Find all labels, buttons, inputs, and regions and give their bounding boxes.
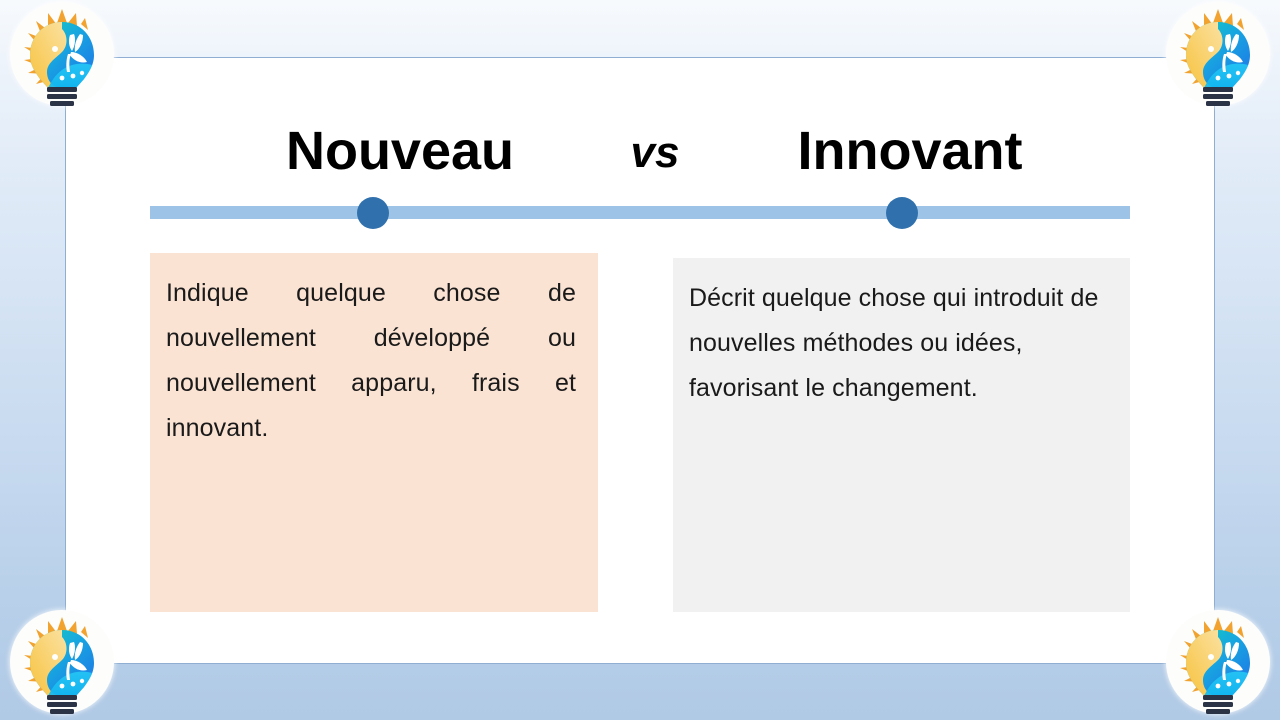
title-term-right: Innovant bbox=[710, 112, 1110, 190]
timeline-bar bbox=[150, 206, 1130, 219]
frame-line-right bbox=[1214, 57, 1215, 664]
frame-line-top bbox=[65, 57, 1215, 58]
timeline-marker-right bbox=[886, 197, 918, 229]
lightbulb-sun-leaf-logo-icon bbox=[1166, 2, 1270, 106]
definition-text-nouveau: Indique quelque chose de nouvellement dé… bbox=[166, 271, 576, 451]
slide-canvas: Nouveau vs Innovant Indique quelque chos… bbox=[0, 0, 1280, 720]
frame-line-left bbox=[65, 57, 66, 664]
title-versus-label: vs bbox=[600, 116, 710, 190]
lightbulb-sun-leaf-logo-icon bbox=[10, 2, 114, 106]
timeline-marker-left bbox=[357, 197, 389, 229]
definition-card-innovant: Décrit quelque chose qui introduit de no… bbox=[673, 258, 1130, 612]
frame-line-bottom bbox=[65, 663, 1215, 664]
definition-card-nouveau: Indique quelque chose de nouvellement dé… bbox=[150, 253, 598, 612]
title-term-left: Nouveau bbox=[200, 112, 600, 190]
lightbulb-sun-leaf-logo-icon bbox=[1166, 610, 1270, 714]
definition-text-innovant: Décrit quelque chose qui introduit de no… bbox=[689, 276, 1108, 411]
lightbulb-sun-leaf-logo-icon bbox=[10, 610, 114, 714]
title-row: Nouveau vs Innovant bbox=[150, 112, 1130, 190]
